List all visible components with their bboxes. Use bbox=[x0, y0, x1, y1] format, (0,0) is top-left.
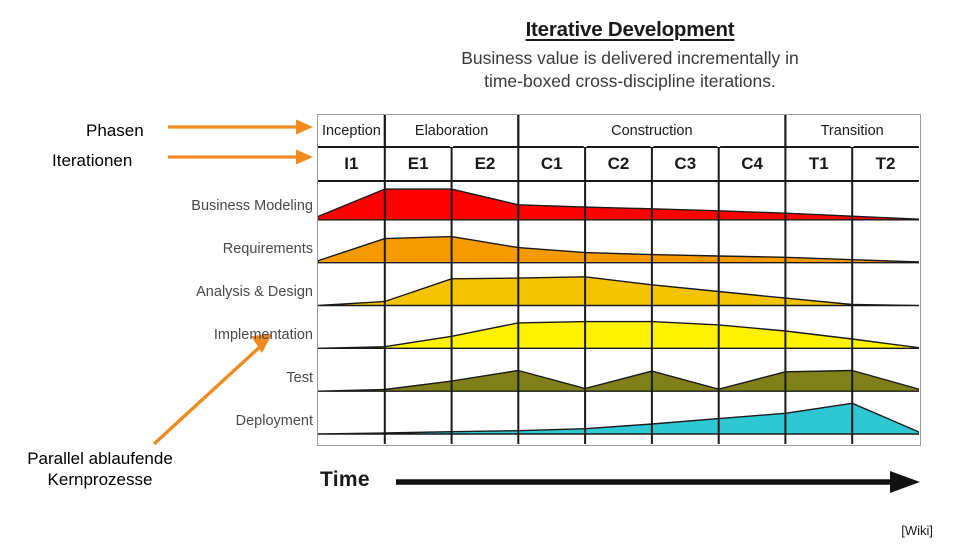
series-band-implementation bbox=[318, 322, 919, 349]
annotation-kernprozesse: Parallel ablaufende Kernprozesse bbox=[2, 448, 198, 491]
iteration-header-c3[interactable]: C3 bbox=[652, 147, 719, 181]
iteration-header-t1[interactable]: T1 bbox=[785, 147, 852, 181]
discipline-label-deployment: Deployment bbox=[236, 413, 313, 429]
subtitle-line-1: Business value is delivered incrementall… bbox=[461, 48, 799, 68]
series-band-requirements bbox=[318, 237, 919, 263]
time-axis-label: Time bbox=[320, 468, 370, 492]
discipline-label-analysis-design: Analysis & Design bbox=[196, 284, 313, 300]
iterative-development-diagram: InceptionElaborationConstructionTransiti… bbox=[317, 114, 921, 446]
iteration-header-t2[interactable]: T2 bbox=[852, 147, 919, 181]
discipline-label-business-modeling: Business Modeling bbox=[191, 198, 313, 214]
attribution-label: [Wiki] bbox=[901, 523, 933, 538]
discipline-label-test: Test bbox=[286, 370, 313, 386]
iteration-header-c2[interactable]: C2 bbox=[585, 147, 652, 181]
phase-header-transition[interactable]: Transition bbox=[785, 115, 919, 147]
series-band-analysis-design bbox=[318, 277, 919, 306]
page-subtitle: Business value is delivered incrementall… bbox=[330, 47, 930, 94]
time-axis: Time bbox=[320, 462, 920, 502]
time-arrow-icon bbox=[396, 470, 924, 494]
title-block: Iterative Development Business value is … bbox=[330, 18, 930, 94]
discipline-label-list: Business Modeling Requirements Analysis … bbox=[60, 114, 313, 446]
iteration-header-c4[interactable]: C4 bbox=[719, 147, 786, 181]
phase-header-inception[interactable]: Inception bbox=[318, 115, 385, 147]
page-title: Iterative Development bbox=[330, 18, 930, 43]
discipline-label-requirements: Requirements bbox=[223, 241, 313, 257]
iteration-header-e1[interactable]: E1 bbox=[385, 147, 452, 181]
subtitle-line-2: time-boxed cross-discipline iterations. bbox=[484, 71, 776, 91]
iteration-header-c1[interactable]: C1 bbox=[518, 147, 585, 181]
series-band-deployment bbox=[318, 403, 919, 434]
series-band-test bbox=[318, 371, 919, 392]
series-band-business-modeling bbox=[318, 189, 919, 220]
phase-header-elaboration[interactable]: Elaboration bbox=[385, 115, 519, 147]
discipline-label-implementation: Implementation bbox=[214, 327, 313, 343]
iteration-header-e2[interactable]: E2 bbox=[452, 147, 519, 181]
iteration-header-i1[interactable]: I1 bbox=[318, 147, 385, 181]
phase-header-construction[interactable]: Construction bbox=[518, 115, 785, 147]
